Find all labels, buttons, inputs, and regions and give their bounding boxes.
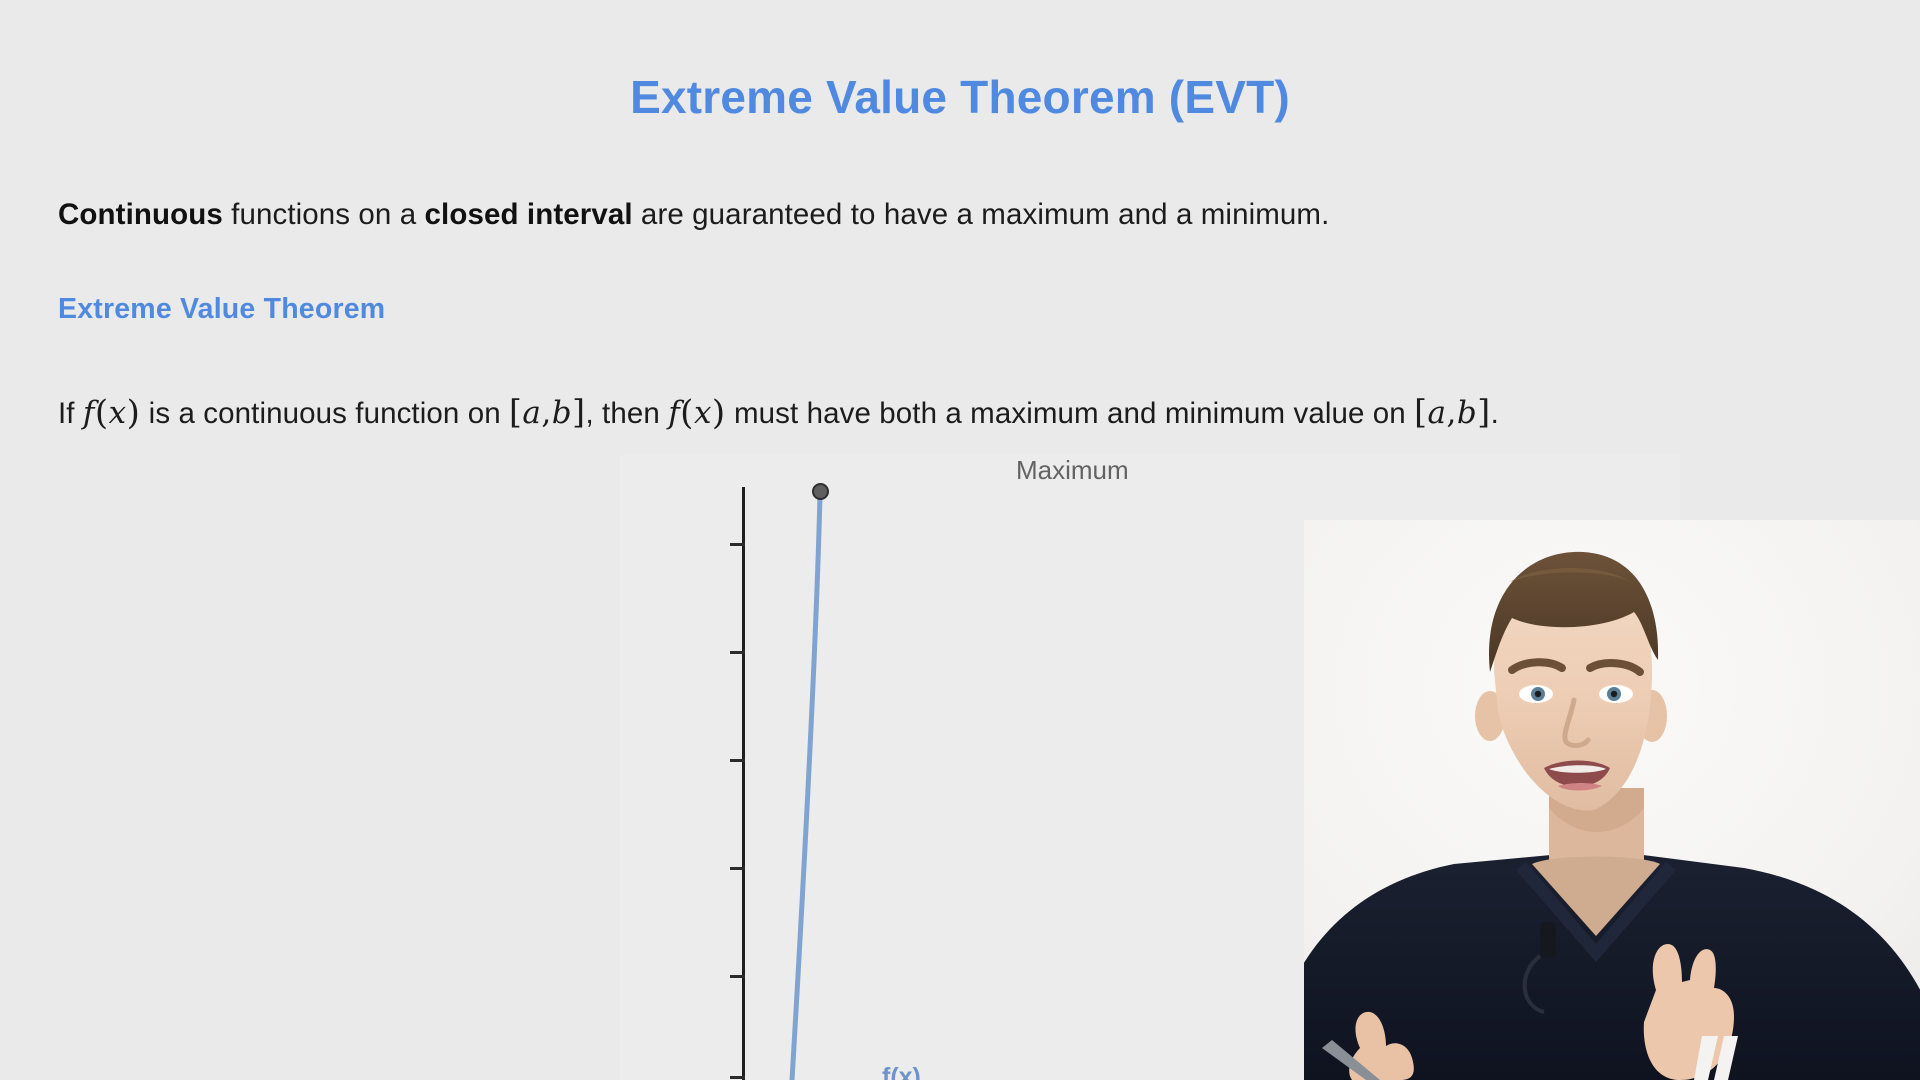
maximum-point-marker [812,483,829,500]
statement-text-2: is a continuous function on [140,397,509,430]
math-a: a [1427,395,1446,431]
math-paren-open: ( [680,393,694,433]
math-x: x [109,395,127,431]
math-bracket-open: [ [1414,392,1427,431]
math-interval-1: [a,b] [509,395,585,431]
slide-canvas: Extreme Value Theorem (EVT) Continuous f… [0,0,1920,1080]
math-fx-2: f(x) [668,395,726,431]
pupil-left [1535,691,1541,697]
theorem-statement: If f(x) is a continuous function on [a,b… [58,392,1499,432]
math-paren-close: ) [127,393,141,433]
page-title: Extreme Value Theorem (EVT) [0,70,1920,124]
math-x: x [694,395,712,431]
math-a: a [522,395,541,431]
statement-text-3: , then [585,397,668,430]
curve-path [792,495,820,1080]
math-fx-1: f(x) [83,395,141,431]
lead-paragraph: Continuous functions on a closed interva… [58,198,1329,232]
statement-text-4: must have both a maximum and minimum val… [726,397,1414,430]
presenter-video-overlay [1304,520,1920,1080]
math-bracket-close: ] [1477,392,1490,431]
section-heading-evt: Extreme Value Theorem [58,293,385,326]
math-interval-2: [a,b] [1414,395,1490,431]
math-bracket-close: ] [572,392,585,431]
lavalier-mic [1540,922,1556,958]
pupil-right [1611,691,1617,697]
math-paren-close: ) [712,393,726,433]
presenter-figure [1304,520,1920,1080]
math-b: b [552,395,572,431]
math-comma: , [1446,395,1456,431]
math-bracket-open: [ [509,392,522,431]
lead-text-2: are guaranteed to have a maximum and a m… [633,198,1330,231]
math-f: f [83,395,95,431]
lead-bold-continuous: Continuous [58,198,223,231]
maximum-annotation-label: Maximum [1016,455,1129,486]
statement-text-1: If [58,397,83,430]
lead-bold-closed-interval: closed interval [425,198,633,231]
math-paren-open: ( [95,393,109,433]
statement-text-5: . [1491,397,1499,430]
lead-text-1: functions on a [223,198,425,231]
presenter-content [1304,520,1920,1080]
math-f: f [668,395,680,431]
fx-curve-label: f(x) [882,1063,921,1080]
math-b: b [1457,395,1477,431]
math-comma: , [541,395,551,431]
